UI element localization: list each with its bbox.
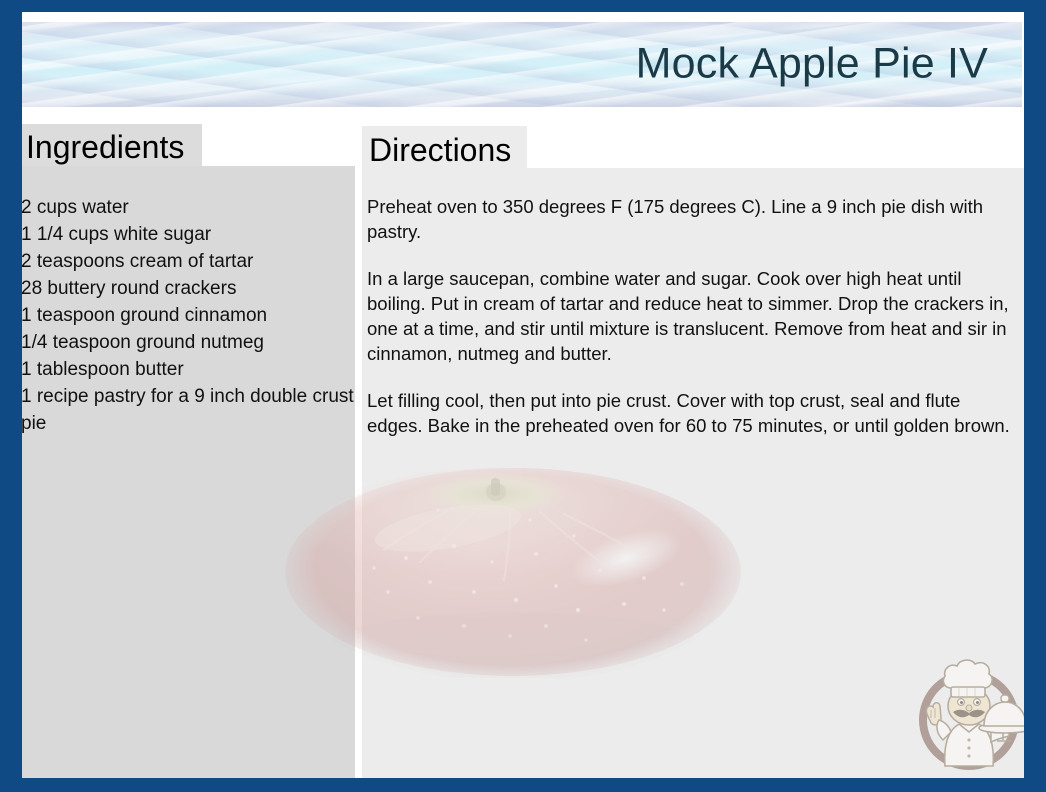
ingredients-list: 2 cups water1 1/4 cups white sugar2 teas… bbox=[21, 194, 355, 437]
direction-paragraph: Preheat oven to 350 degrees F (175 degre… bbox=[367, 194, 1019, 244]
recipe-slide: Mock Apple Pie IV Ingredients 2 cups wat… bbox=[0, 0, 1046, 792]
title-banner: Mock Apple Pie IV bbox=[18, 22, 1022, 107]
ingredient-item: 1 tablespoon butter bbox=[21, 356, 355, 383]
directions-body: Preheat oven to 350 degrees F (175 degre… bbox=[367, 194, 1019, 438]
ingredient-item: 1 teaspoon ground cinnamon bbox=[21, 302, 355, 329]
ingredient-item: 1 recipe pastry for a 9 inch double crus… bbox=[21, 383, 355, 437]
ingredient-item: 28 buttery round crackers bbox=[21, 275, 355, 302]
ingredient-item: 2 cups water bbox=[21, 194, 355, 221]
ingredient-item: 2 teaspoons cream of tartar bbox=[21, 248, 355, 275]
page-title: Mock Apple Pie IV bbox=[636, 42, 988, 85]
ingredients-heading: Ingredients bbox=[26, 128, 184, 166]
frame-border-left bbox=[0, 0, 22, 792]
frame-border-top bbox=[0, 0, 1046, 12]
direction-paragraph: In a large saucepan, combine water and s… bbox=[367, 266, 1019, 366]
direction-paragraph: Let filling cool, then put into pie crus… bbox=[367, 388, 1019, 438]
ingredient-item: 1 1/4 cups white sugar bbox=[21, 221, 355, 248]
frame-border-bottom bbox=[0, 778, 1046, 792]
directions-heading: Directions bbox=[369, 131, 511, 169]
ingredient-item: 1/4 teaspoon ground nutmeg bbox=[21, 329, 355, 356]
frame-border-right bbox=[1024, 0, 1046, 792]
